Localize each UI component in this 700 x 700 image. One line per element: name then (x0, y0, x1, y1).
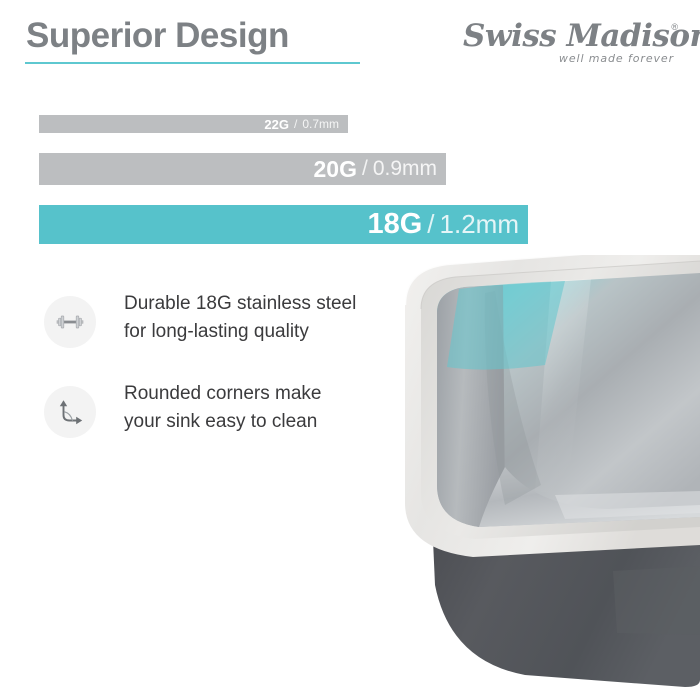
gauge-bar-label-gauge: 20G (313, 156, 356, 183)
gauge-bar-label-thickness: 0.7mm (302, 117, 339, 131)
feature-item-text: Rounded corners make your sink easy to c… (124, 380, 322, 436)
gauge-bar-22g: 22G / 0.7mm (39, 115, 348, 133)
gauge-comparison-chart: 22G / 0.7mm 20G / 0.9mm 18G / 1.2mm (0, 100, 700, 255)
gauge-bar-separator: / (427, 209, 434, 240)
feature-text-line2: for long-lasting quality (124, 318, 356, 346)
gauge-bar-separator: / (362, 157, 368, 181)
page-title: Superior Design (26, 16, 289, 56)
registered-trademark-icon: ® (671, 22, 678, 32)
gauge-bar-label-thickness: 0.9mm (373, 157, 437, 181)
title-underline-rule (25, 62, 360, 64)
logo-wordmark: Swiss Madison (463, 18, 700, 54)
header: Superior Design Swiss Madison ® well mad… (0, 0, 700, 92)
gauge-bar-20g: 20G / 0.9mm (39, 153, 446, 185)
feature-text-line1: Rounded corners make (124, 383, 322, 404)
gauge-bar-separator: / (294, 117, 297, 131)
rounded-corner-arrow-icon (44, 386, 96, 438)
logo-tagline: well made forever (559, 52, 674, 65)
brand-logo: Swiss Madison ® well made forever (463, 18, 678, 70)
gauge-bar-label-gauge: 22G (264, 117, 289, 132)
feature-text-line2: your sink easy to clean (124, 408, 322, 436)
gauge-bar-label-gauge: 18G (367, 208, 422, 241)
feature-text-line1: Durable 18G stainless steel (124, 293, 356, 314)
feature-item-text: Durable 18G stainless steel for long-las… (124, 290, 356, 346)
gauge-bar-label-thickness: 1.2mm (440, 209, 519, 240)
gauge-bar-18g: 18G / 1.2mm (39, 205, 528, 244)
product-image-sink (355, 255, 700, 700)
dumbbell-icon (44, 296, 96, 348)
